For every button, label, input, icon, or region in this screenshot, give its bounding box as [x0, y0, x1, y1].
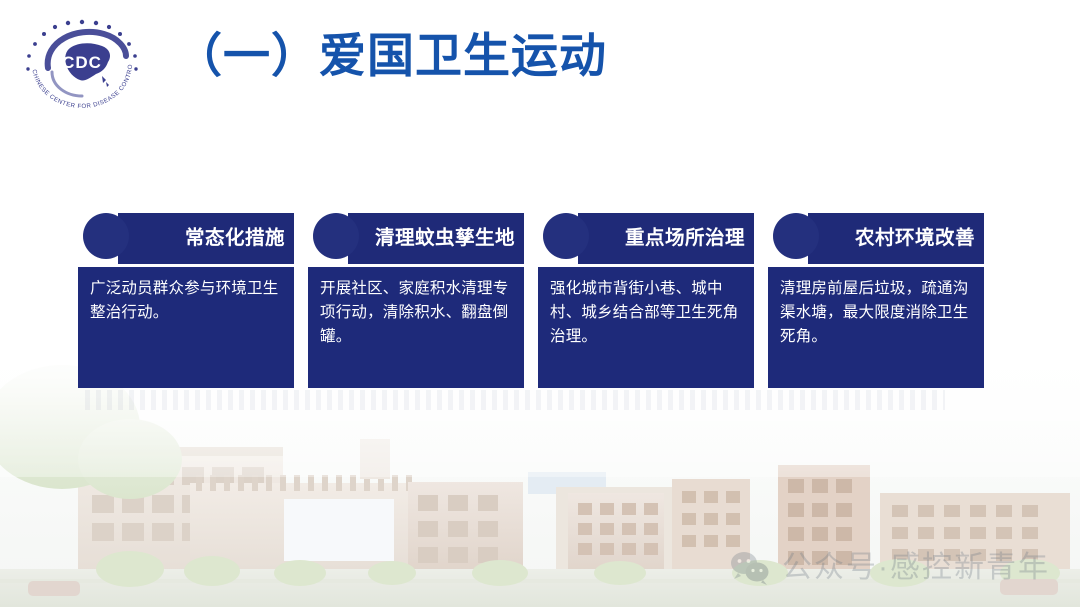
- card-description: 强化城市背街小巷、城中村、城乡结合部等卫生死角治理。: [550, 277, 743, 350]
- card-title: 清理蚊虫孳生地: [375, 229, 515, 249]
- card-body: 开展社区、家庭积水清理专项行动，清除积水、翻盘倒罐。: [308, 267, 524, 388]
- watermark-text: 公众号·感控新青年: [782, 553, 1050, 583]
- card-title: 农村环境改善: [855, 229, 975, 249]
- card-body: 清理房前屋后垃圾，疏通沟渠水塘，最大限度消除卫生死角。: [768, 267, 984, 388]
- slide-header: CDC CHINESE CENTER FOR DISEASE CONTROL A…: [0, 0, 1080, 125]
- card-header: 常态化措施: [118, 213, 294, 264]
- card-body: 强化城市背街小巷、城中村、城乡结合部等卫生死角治理。: [538, 267, 754, 388]
- content-card[interactable]: 清理蚊虫孳生地 开展社区、家庭积水清理专项行动，清除积水、翻盘倒罐。: [308, 208, 524, 388]
- card-description: 开展社区、家庭积水清理专项行动，清除积水、翻盘倒罐。: [320, 277, 513, 350]
- filled-circle-icon: [313, 213, 359, 259]
- filled-circle-icon: [773, 213, 819, 259]
- content-card[interactable]: 重点场所治理 强化城市背街小巷、城中村、城乡结合部等卫生死角治理。: [538, 208, 754, 388]
- filled-circle-icon: [83, 213, 129, 259]
- card-title: 重点场所治理: [625, 229, 745, 249]
- page-title: （一）爱国卫生运动: [175, 28, 607, 84]
- china-cdc-logo-icon: CDC CHINESE CENTER FOR DISEASE CONTROL A…: [18, 12, 146, 112]
- card-body: 广泛动员群众参与环境卫生整治行动。: [78, 267, 294, 388]
- card-title: 常态化措施: [185, 229, 285, 249]
- background-artifact: [85, 390, 945, 410]
- wechat-watermark: 公众号·感控新青年: [729, 551, 1050, 585]
- filled-circle-icon: [543, 213, 589, 259]
- content-card[interactable]: 农村环境改善 清理房前屋后垃圾，疏通沟渠水塘，最大限度消除卫生死角。: [768, 208, 984, 388]
- card-header: 重点场所治理: [578, 213, 754, 264]
- card-header: 清理蚊虫孳生地: [348, 213, 524, 264]
- card-description: 清理房前屋后垃圾，疏通沟渠水塘，最大限度消除卫生死角。: [780, 277, 973, 350]
- card-description: 广泛动员群众参与环境卫生整治行动。: [90, 277, 283, 325]
- content-card[interactable]: 常态化措施 广泛动员群众参与环境卫生整治行动。: [78, 208, 294, 388]
- wechat-icon: [729, 551, 771, 585]
- content-card-row: 常态化措施 广泛动员群众参与环境卫生整治行动。 清理蚊虫孳生地 开展社区、家庭积…: [78, 208, 994, 388]
- card-header: 农村环境改善: [808, 213, 984, 264]
- slide-canvas: CDC CHINESE CENTER FOR DISEASE CONTROL A…: [0, 0, 1080, 607]
- svg-text:CDC: CDC: [62, 53, 102, 72]
